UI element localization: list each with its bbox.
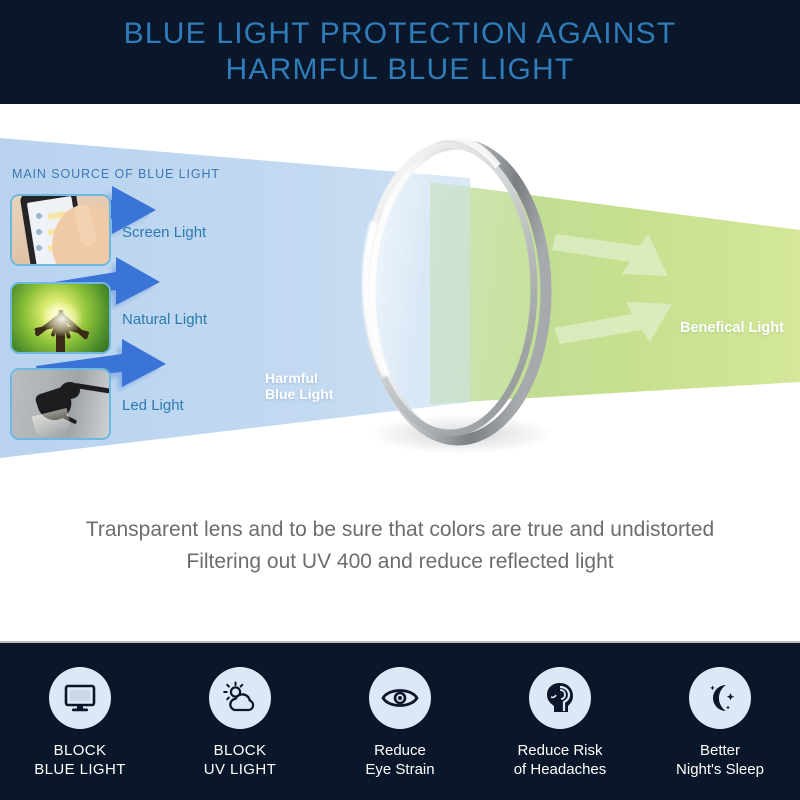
source-label-screen-light: Screen Light (122, 224, 206, 241)
sun-cloud-icon (222, 681, 258, 715)
feature-icon-circle-5 (689, 667, 751, 729)
desk-lamp-photo (12, 370, 109, 438)
feature-label-5: Better Night's Sleep (676, 741, 764, 779)
description-line-2: Filtering out UV 400 and reduce reflecte… (186, 546, 613, 578)
feature-label-2: BLOCK UV LIGHT (204, 741, 276, 779)
feature-block-reduce-risk-headaches: Reduce Risk of Headaches (485, 667, 635, 779)
head-brain-icon (543, 681, 577, 715)
smartphone-photo (12, 196, 109, 264)
header-title-line2: HARMFUL BLUE LIGHT (226, 52, 575, 88)
description-line-1: Transparent lens and to be sure that col… (86, 514, 714, 546)
header-banner: BLUE LIGHT PROTECTION AGAINST HARMFUL BL… (0, 0, 800, 104)
benefical-light-label: Benefical Light (680, 320, 784, 336)
harmful-label-line1: Harmful (265, 370, 333, 386)
feature-label-1: BLOCK BLUE LIGHT (34, 741, 126, 779)
feature-icon-circle-3 (369, 667, 431, 729)
lens-diagram-stage: MAIN SOURCE OF BLUE LIGHT (0, 104, 800, 490)
source-thumbnail-led-light (10, 368, 111, 440)
source-heading: MAIN SOURCE OF BLUE LIGHT (12, 167, 220, 181)
sunlit-tree-photo (12, 284, 109, 352)
feature-block-reduce-eye-strain: Reduce Eye Strain (325, 667, 475, 779)
source-label-led-light: Led Light (122, 397, 184, 414)
feature-icon-circle-1 (49, 667, 111, 729)
feature-label-3: Reduce Eye Strain (365, 741, 434, 779)
source-thumbnail-screen-light (10, 194, 111, 266)
feature-block-better-nights-sleep: Better Night's Sleep (645, 667, 795, 779)
feature-icon-circle-2 (209, 667, 271, 729)
source-label-natural-light: Natural Light (122, 311, 207, 328)
monitor-icon (63, 681, 97, 715)
feature-label-4: Reduce Risk of Headaches (514, 741, 607, 779)
beam-and-lens-graphic (0, 104, 800, 490)
feature-block-block-blue-light: BLOCK BLUE LIGHT (5, 667, 155, 779)
infographic-poster: BLUE LIGHT PROTECTION AGAINST HARMFUL BL… (0, 0, 800, 800)
harmful-label-line2: Blue Light (265, 386, 333, 402)
feature-block-block-uv-light: BLOCK UV LIGHT (165, 667, 315, 779)
feature-bar: BLOCK BLUE LIGHT BLOCK UV LIGHT (0, 643, 800, 800)
header-title-line1: BLUE LIGHT PROTECTION AGAINST (124, 16, 677, 52)
description-block: Transparent lens and to be sure that col… (0, 500, 800, 640)
harmful-blue-light-label: Harmful Blue Light (265, 370, 333, 402)
eye-icon (381, 685, 419, 711)
moon-stars-icon (703, 681, 737, 715)
source-thumbnail-natural-light (10, 282, 111, 354)
feature-icon-circle-4 (529, 667, 591, 729)
